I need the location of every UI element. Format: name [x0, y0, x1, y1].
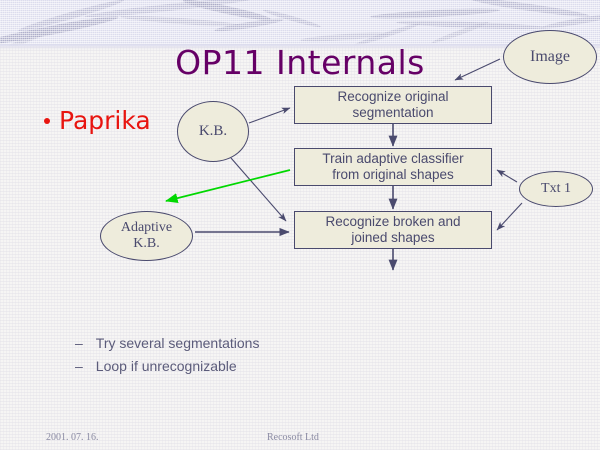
ellipse-line1: Adaptive — [121, 220, 172, 235]
connector-txt1-to-box2 — [497, 170, 517, 182]
sub-bullet-item: – Try several segmentations — [75, 332, 259, 355]
process-box-line2: from original shapes — [332, 167, 454, 182]
connector-kb-to-recognize-broken — [231, 158, 286, 221]
ellipse-adaptive-kb-label: Adaptive K.B. — [121, 220, 172, 252]
process-box-line2: joined shapes — [351, 230, 434, 245]
ellipse-image-label: Image — [530, 48, 570, 66]
ellipse-kb-label: K.B. — [199, 123, 227, 140]
ellipse-adaptive-kb[interactable]: Adaptive K.B. — [100, 211, 193, 261]
ellipse-image[interactable]: Image — [503, 30, 597, 84]
ellipse-txt1-label: Txt 1 — [541, 181, 571, 197]
dash-marker-icon: – — [75, 355, 83, 378]
sub-bullet-label: Try several segmentations — [96, 332, 260, 355]
connector-image-to-title — [455, 59, 500, 80]
sub-bullet-item: – Loop if unrecognizable — [75, 355, 259, 378]
bullet-label-paprika: Paprika — [59, 107, 151, 135]
process-box-text: Recognize original segmentation — [337, 89, 448, 121]
process-box-recognize-original[interactable]: Recognize original segmentation — [294, 86, 492, 124]
ellipse-txt1[interactable]: Txt 1 — [519, 171, 593, 207]
sub-bullet-list: – Try several segmentations – Loop if un… — [75, 332, 259, 378]
process-box-text: Recognize broken and joined shapes — [325, 214, 460, 246]
connector-txt1-to-box3 — [497, 203, 522, 230]
slide-canvas: OP11 Internals — [0, 0, 600, 450]
ellipse-line2: K.B. — [133, 236, 159, 251]
process-box-line1: Recognize broken and — [325, 214, 460, 229]
process-box-text: Train adaptive classifier from original … — [322, 151, 463, 183]
connector-green-feedback — [166, 170, 290, 201]
footer-date: 2001. 07. 16. — [46, 432, 99, 443]
bullet-dot-icon — [44, 118, 50, 124]
ellipse-kb[interactable]: K.B. — [177, 101, 249, 162]
footer-company: Recosoft Ltd — [267, 432, 319, 443]
process-box-line1: Recognize original — [337, 89, 448, 104]
process-box-recognize-broken[interactable]: Recognize broken and joined shapes — [294, 211, 492, 249]
bullet-item-paprika: Paprika — [44, 107, 151, 135]
process-box-train-classifier[interactable]: Train adaptive classifier from original … — [294, 148, 492, 186]
dash-marker-icon: – — [75, 332, 83, 355]
process-box-line2: segmentation — [352, 105, 433, 120]
sub-bullet-label: Loop if unrecognizable — [96, 355, 237, 378]
process-box-line1: Train adaptive classifier — [322, 151, 463, 166]
connector-kb-to-recognize-original — [249, 108, 290, 123]
